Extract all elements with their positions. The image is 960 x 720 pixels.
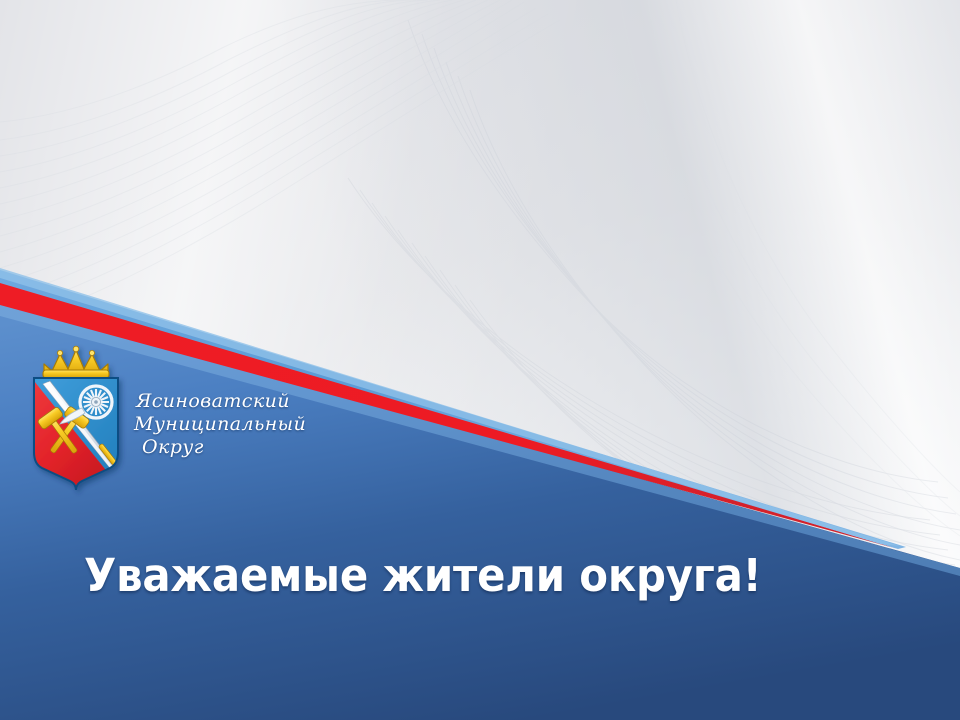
organization-wordmark: Ясиноватский Муниципальный Округ: [134, 390, 434, 459]
coat-of-arms-icon: [18, 340, 134, 508]
diagonal-flag-band: [0, 0, 960, 720]
crown-icon: [43, 346, 109, 378]
page-title: Уважаемые жители округа!: [84, 551, 762, 601]
banner-canvas: Ясиноватский Муниципальный Округ Уважаем…: [0, 0, 960, 720]
wordmark-line-2: Муниципальный: [134, 413, 434, 436]
wordmark-line-1: Ясиноватский: [134, 390, 434, 413]
wordmark-line-3: Округ: [134, 436, 434, 459]
